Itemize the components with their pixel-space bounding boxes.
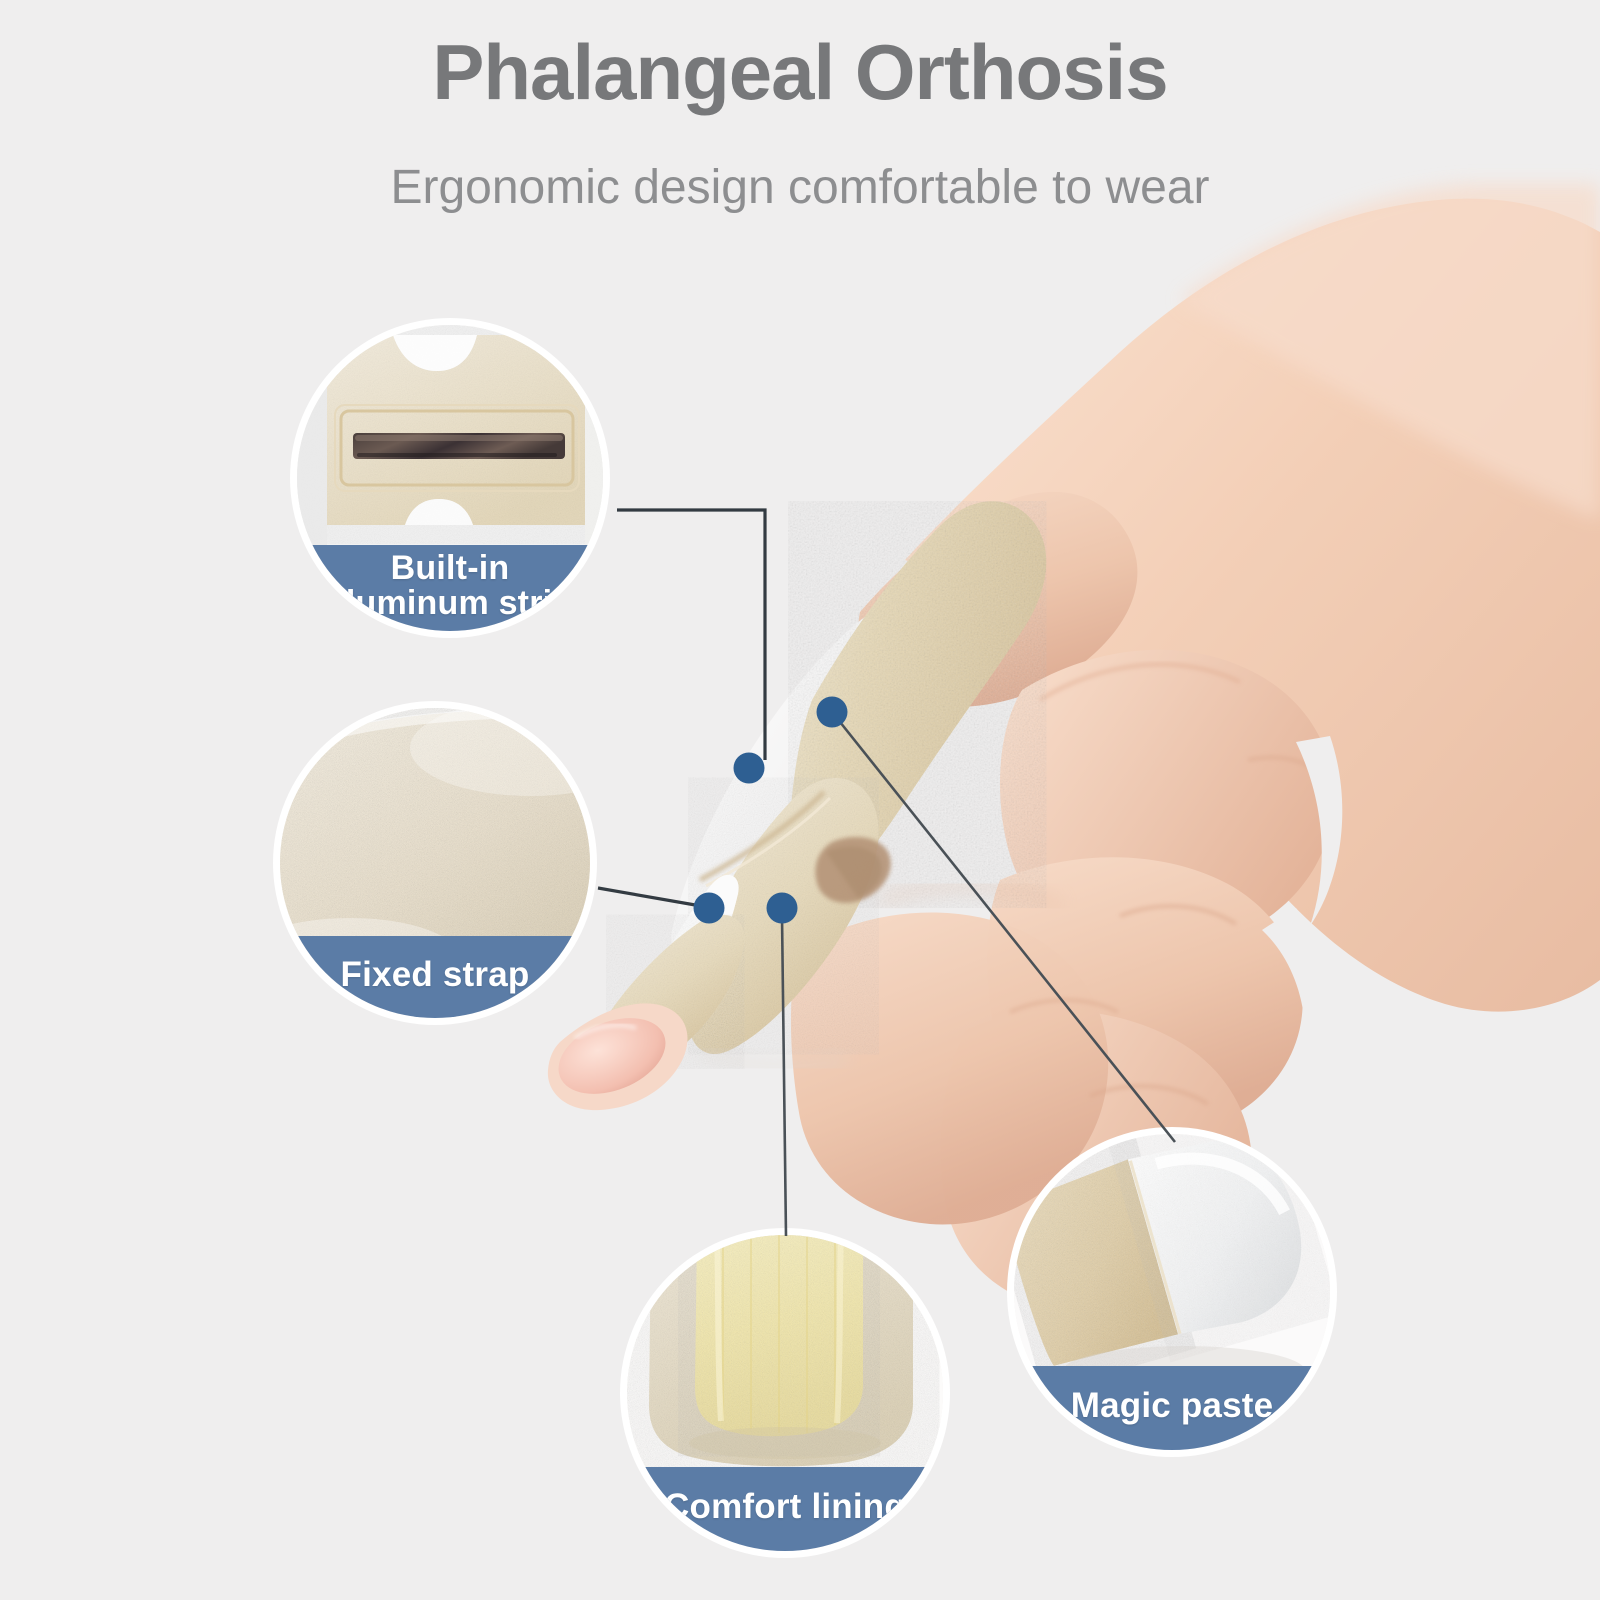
callout-label-fixed-strap: Fixed strap [280, 936, 590, 1018]
leader-line-magic-paste [840, 722, 1175, 1142]
page-subtitle: Ergonomic design comfortable to wear [0, 160, 1600, 215]
leader-line-aluminum-strip [617, 510, 765, 760]
leader-line-fixed-strap [598, 888, 701, 906]
dot-fixed-strap [694, 893, 725, 924]
label-line-1: Built-in [391, 549, 510, 587]
callout-label-aluminum-strip: Built-in aluminum strip [297, 545, 603, 631]
label-line-1: Comfort lining [664, 1489, 906, 1525]
callout-label-comfort-lining: Comfort lining [627, 1467, 943, 1551]
callout-magic-paste[interactable]: Magic paste [1014, 1134, 1330, 1450]
leader-line-comfort-lining [782, 916, 786, 1236]
callout-built-in-aluminum-strip[interactable]: Built-in aluminum strip [297, 325, 603, 631]
label-line-1: Magic paste [1071, 1388, 1274, 1424]
dot-magic-paste [817, 697, 848, 728]
infographic-canvas: Phalangeal Orthosis Ergonomic design com… [0, 0, 1600, 1600]
label-line-1: Fixed strap [341, 957, 530, 993]
dot-comfort-lining [767, 893, 798, 924]
callout-label-magic-paste: Magic paste [1014, 1366, 1330, 1450]
page-title: Phalangeal Orthosis [0, 30, 1600, 114]
label-line-2: aluminum strip [327, 584, 574, 622]
callout-comfort-lining[interactable]: Comfort lining [627, 1235, 943, 1551]
callout-fixed-strap[interactable]: Fixed strap [280, 708, 590, 1018]
dot-aluminum-strip [734, 753, 765, 784]
